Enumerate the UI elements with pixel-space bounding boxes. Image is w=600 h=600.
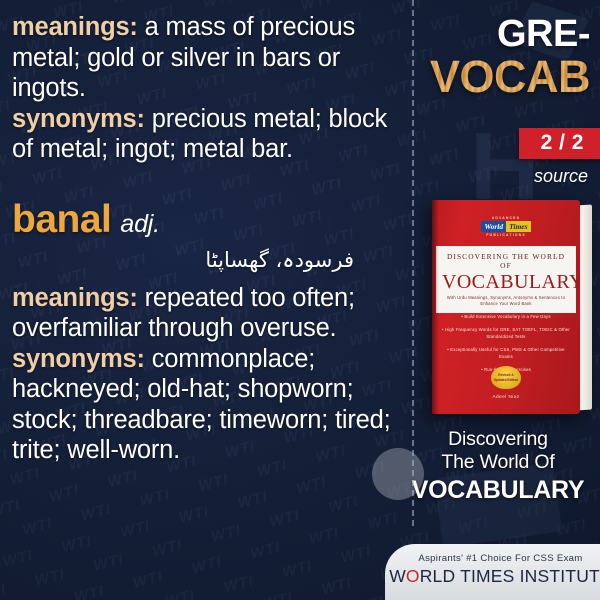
institute-footer: Aspirants' #1 Choice For CSS Exam WORLD … — [385, 544, 600, 600]
book-bullet: • Build Extensive Vocabulary in a Few Da… — [440, 313, 572, 321]
book-author: Adeel Niaz — [432, 395, 580, 400]
brand-title-line2: VOCAB — [404, 54, 590, 100]
synonyms-label: synonyms: — [12, 345, 145, 373]
vertical-dashed-divider — [412, 0, 414, 526]
book-image: ADVANCED World Times PUBLICATIONS Discov… — [432, 200, 592, 418]
publisher-top-text: ADVANCED — [462, 216, 550, 220]
entry-1: meanings: a mass of precious metal; gold… — [12, 12, 398, 165]
book-cover: ADVANCED World Times PUBLICATIONS Discov… — [432, 200, 580, 414]
book-bullet: • Exceptionally Useful for CSS, PMS & Ot… — [440, 346, 572, 361]
book-cover-kicker: Discovering the World of — [442, 252, 570, 270]
urdu-meaning: فرسودہ، گھساپٹا — [12, 243, 398, 277]
page-counter-badge: 2 / 2 — [519, 128, 600, 159]
definitions-column: meanings: a mass of precious metal; gold… — [0, 0, 404, 600]
entry-1-synonyms: synonyms: precious metal; block of metal… — [12, 104, 398, 165]
part-of-speech: adj. — [120, 210, 160, 239]
caption-line-1: Discovering — [404, 428, 592, 451]
brand-column: GRE- VOCAB 2 / 2 source ADVANCED World T… — [404, 0, 600, 600]
entry-2-headword-row: banal adj. — [12, 199, 398, 241]
footer-institute-name: WORLD TIMES INSTITUTE — [389, 566, 600, 587]
publisher-wordmark: World Times — [462, 221, 550, 232]
book-title-band: Discovering the World of VOCABULARY With… — [436, 246, 576, 313]
synonyms-label: synonyms: — [12, 105, 145, 133]
footer-name-pre: W — [389, 566, 406, 586]
publisher-bottom-text: PUBLICATIONS — [462, 233, 550, 237]
book-bullet: • High Frequency Words for GRE, SAT TOEF… — [440, 326, 572, 341]
brand-title: GRE- VOCAB — [404, 0, 600, 100]
footer-name-o: O — [406, 566, 420, 586]
book-edition-seal: Revised & Updated Edition — [491, 366, 521, 389]
headword: banal — [12, 199, 111, 241]
publisher-word-world: World — [481, 221, 506, 232]
book-caption: Discovering The World Of VOCABULARY — [404, 428, 592, 505]
book-cover-title: VOCABULARY — [442, 271, 570, 293]
publisher-logo: ADVANCED World Times PUBLICATIONS — [462, 216, 550, 237]
publisher-word-times: Times — [506, 221, 530, 232]
poster-canvas: WTIWTIWTIWTIWTIWTIWTIWTIWTIWTIWTIWTIWTIW… — [0, 0, 600, 600]
entry-1-meanings: meanings: a mass of precious metal; gold… — [12, 12, 398, 104]
caption-line-2: The World Of — [404, 451, 592, 474]
entry-2-meanings: meanings: repeated too often; overfamili… — [12, 283, 398, 344]
meanings-label: meanings: — [12, 13, 138, 41]
source-label: source — [534, 166, 588, 187]
brand-title-line1: GRE- — [404, 14, 590, 54]
footer-name-post: RLD TIMES INSTITUTE — [420, 566, 600, 586]
footer-tagline: Aspirants' #1 Choice For CSS Exam — [418, 553, 582, 564]
entry-2-synonyms: synonyms: commonplace; hackneyed; old-ha… — [12, 344, 398, 466]
caption-line-3: VOCABULARY — [404, 476, 592, 505]
meanings-label: meanings: — [12, 284, 138, 312]
book-cover-subtitle: With Urdu Meanings, Synonyms, Antonyms &… — [442, 295, 570, 307]
entry-2: banal adj. فرسودہ، گھساپٹا meanings: rep… — [12, 199, 398, 466]
